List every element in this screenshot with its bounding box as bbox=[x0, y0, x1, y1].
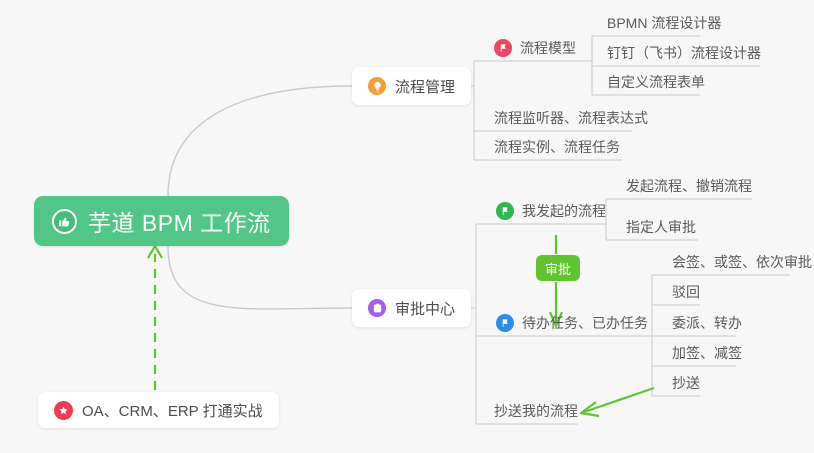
item-label: 指定人审批 bbox=[626, 217, 696, 237]
root-label: 芋道 BPM 工作流 bbox=[88, 204, 271, 238]
green-arrow-cc-to-cc-my-process bbox=[581, 388, 654, 416]
lightbulb-icon bbox=[368, 77, 386, 95]
root-node[interactable]: 芋道 BPM 工作流 bbox=[34, 196, 289, 246]
link-root-to-process-management bbox=[168, 86, 352, 196]
item-reject[interactable]: 驳回 bbox=[666, 278, 706, 306]
footnote-label: OA、CRM、ERP 打通实战 bbox=[82, 400, 263, 421]
item-label: 钉钉（飞书）流程设计器 bbox=[607, 43, 761, 63]
item-label: 会签、或签、依次审批 bbox=[672, 252, 812, 272]
item-custom-form[interactable]: 自定义流程表单 bbox=[601, 68, 711, 96]
item-label: 自定义流程表单 bbox=[607, 72, 705, 92]
item-add-remove-sign[interactable]: 加签、减签 bbox=[666, 339, 748, 367]
item-counter-sign[interactable]: 会签、或签、依次审批 bbox=[666, 248, 814, 276]
item-label: 流程模型 bbox=[520, 38, 576, 58]
thumbs-up-icon bbox=[52, 209, 77, 234]
item-process-listener[interactable]: 流程监听器、流程表达式 bbox=[488, 104, 654, 132]
flag-icon bbox=[496, 314, 514, 332]
item-bpmn-designer[interactable]: BPMN 流程设计器 bbox=[601, 9, 727, 37]
item-delegate-transfer[interactable]: 委派、转办 bbox=[666, 309, 748, 337]
item-label: 发起流程、撤销流程 bbox=[626, 176, 752, 196]
branch-approval-center[interactable]: 审批中心 bbox=[352, 289, 471, 327]
flag-icon bbox=[496, 202, 514, 220]
item-label: BPMN 流程设计器 bbox=[607, 13, 721, 33]
item-assignee-approve[interactable]: 指定人审批 bbox=[620, 213, 702, 241]
footnote-node[interactable]: OA、CRM、ERP 打通实战 bbox=[38, 392, 279, 428]
branch-label: 审批中心 bbox=[395, 298, 455, 319]
item-my-started-process[interactable]: 我发起的流程 bbox=[490, 197, 612, 225]
mindmap-canvas: 芋道 BPM 工作流 流程管理 审批中心 流程模型 bbox=[0, 0, 814, 453]
item-process-instance[interactable]: 流程实例、流程任务 bbox=[488, 133, 626, 161]
item-todo-done-task[interactable]: 待办任务、已办任务 bbox=[490, 309, 654, 337]
link-root-to-approval-center bbox=[168, 246, 352, 309]
branch-label: 流程管理 bbox=[395, 76, 455, 97]
item-label: 流程实例、流程任务 bbox=[494, 137, 620, 157]
item-start-cancel[interactable]: 发起流程、撤销流程 bbox=[620, 172, 758, 200]
approval-badge: 审批 bbox=[536, 255, 580, 281]
item-label: 委派、转办 bbox=[672, 313, 742, 333]
flag-icon bbox=[494, 39, 512, 57]
item-process-model[interactable]: 流程模型 bbox=[488, 34, 582, 62]
item-cc-my-process[interactable]: 抄送我的流程 bbox=[488, 397, 584, 425]
item-label: 驳回 bbox=[672, 282, 700, 302]
branch-process-management[interactable]: 流程管理 bbox=[352, 67, 471, 105]
item-label: 抄送 bbox=[672, 373, 700, 393]
item-dingtalk-designer[interactable]: 钉钉（飞书）流程设计器 bbox=[601, 39, 767, 67]
item-label: 待办任务、已办任务 bbox=[522, 313, 648, 333]
star-icon bbox=[54, 401, 73, 420]
item-cc[interactable]: 抄送 bbox=[666, 369, 706, 397]
item-label: 流程监听器、流程表达式 bbox=[494, 108, 648, 128]
clipboard-icon bbox=[368, 299, 386, 317]
item-label: 加签、减签 bbox=[672, 343, 742, 363]
item-label: 我发起的流程 bbox=[522, 201, 606, 221]
dashed-arrow-footnote-to-root bbox=[148, 246, 162, 390]
item-label: 抄送我的流程 bbox=[494, 401, 578, 421]
